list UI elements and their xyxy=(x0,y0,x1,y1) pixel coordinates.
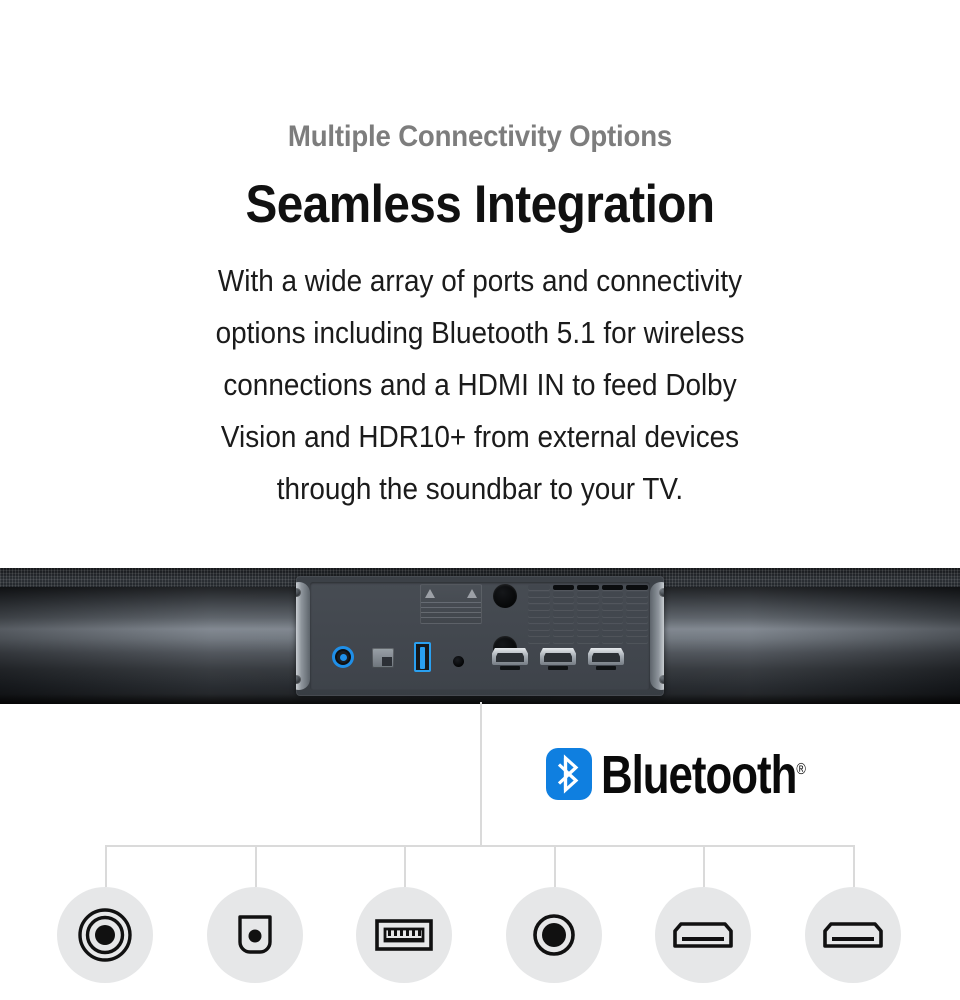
vent-slot xyxy=(602,625,624,630)
connector-vertical-line xyxy=(480,702,482,846)
vent-slot xyxy=(577,631,599,636)
vent-slot xyxy=(602,611,624,616)
hdmi-port-icon xyxy=(672,918,734,952)
rear-connection-panel xyxy=(296,576,664,696)
rear-hdmi-port-3 xyxy=(588,648,624,665)
screw-icon xyxy=(659,588,664,597)
rear-optical-port xyxy=(372,648,394,668)
optical-port-icon xyxy=(229,909,281,961)
vent-slot xyxy=(528,618,550,623)
vent-slot xyxy=(553,592,575,597)
hdmi-port-icon xyxy=(822,918,884,952)
warning-triangle-icon xyxy=(467,589,477,598)
vent-slot xyxy=(626,618,648,623)
vent-slot xyxy=(577,618,599,623)
connector-drop-line xyxy=(105,845,107,887)
ventilation-grille xyxy=(528,585,648,643)
vent-slot xyxy=(528,585,550,590)
vent-slot xyxy=(528,605,550,610)
connector-drop-line xyxy=(554,845,556,887)
body-line: Vision and HDR10+ from external devices xyxy=(48,411,912,463)
soundbar-product-image xyxy=(0,568,960,704)
panel-bezel-left xyxy=(296,582,310,690)
vent-slot xyxy=(528,631,550,636)
vent-slot xyxy=(602,585,624,590)
vent-slot xyxy=(602,592,624,597)
registered-trademark-icon: ® xyxy=(796,760,806,778)
connector-drop-line xyxy=(703,845,705,887)
vent-slot xyxy=(528,625,550,630)
marketing-copy-block: Multiple Connectivity Options Seamless I… xyxy=(0,0,960,515)
connectivity-icon-hdmi-1[interactable] xyxy=(655,887,751,983)
rear-usb-port xyxy=(414,642,431,672)
body-line: connections and a HDMI IN to feed Dolby xyxy=(48,359,912,411)
vent-slot xyxy=(602,631,624,636)
vent-slot xyxy=(553,618,575,623)
vent-slot xyxy=(577,605,599,610)
vent-slot xyxy=(602,605,624,610)
panel-bezel-right xyxy=(650,582,664,690)
screw-icon xyxy=(296,588,301,597)
rear-aux-port xyxy=(453,656,464,667)
vent-slot xyxy=(626,638,648,643)
vent-slot xyxy=(577,592,599,597)
page-title: Seamless Integration xyxy=(48,178,912,231)
body-line: With a wide array of ports and connectiv… xyxy=(48,255,912,307)
bluetooth-wordmark-text: Bluetooth xyxy=(601,744,796,804)
vent-slot xyxy=(602,638,624,643)
rear-hdmi-port-1 xyxy=(492,648,528,665)
vent-slot xyxy=(577,585,599,590)
bluetooth-rune-icon xyxy=(546,748,592,800)
vent-slot xyxy=(553,625,575,630)
connector-drop-line xyxy=(404,845,406,887)
vent-slot xyxy=(553,631,575,636)
vent-slot xyxy=(528,611,550,616)
connectivity-icon-coaxial[interactable] xyxy=(57,887,153,983)
body-line: options including Bluetooth 5.1 for wire… xyxy=(48,307,912,359)
vent-slot xyxy=(577,598,599,603)
connectivity-icon-aux[interactable] xyxy=(506,887,602,983)
connector-drop-line xyxy=(255,845,257,887)
body-copy: With a wide array of ports and connectiv… xyxy=(48,255,912,515)
vent-slot xyxy=(602,598,624,603)
vent-slot xyxy=(626,598,648,603)
vent-slot xyxy=(553,611,575,616)
vent-slot xyxy=(626,605,648,610)
vent-slot xyxy=(528,638,550,643)
panel-inner-plate xyxy=(310,582,650,690)
usb-port-icon xyxy=(374,913,434,957)
connector-drop-line xyxy=(853,845,855,887)
screw-icon xyxy=(659,675,664,684)
connectivity-icon-hdmi-2[interactable] xyxy=(805,887,901,983)
rear-hdmi-port-2 xyxy=(540,648,576,665)
connector-horizontal-bar xyxy=(105,845,854,847)
vent-slot xyxy=(626,625,648,630)
body-line: through the soundbar to your TV. xyxy=(48,463,912,515)
vent-slot xyxy=(553,638,575,643)
vent-slot xyxy=(626,611,648,616)
vent-slot xyxy=(577,611,599,616)
regulatory-warning-label xyxy=(420,584,482,624)
connectivity-icon-usb[interactable] xyxy=(356,887,452,983)
screw-icon xyxy=(296,675,301,684)
vent-slot xyxy=(553,605,575,610)
vent-slot xyxy=(553,585,575,590)
vent-slot xyxy=(626,585,648,590)
product-feature-panel: Multiple Connectivity Options Seamless I… xyxy=(0,0,960,1000)
vent-slot xyxy=(553,598,575,603)
vent-slot xyxy=(528,592,550,597)
vent-slot xyxy=(577,638,599,643)
vent-slot xyxy=(602,618,624,623)
vent-slot xyxy=(626,592,648,597)
bluetooth-logo: Bluetooth® xyxy=(546,748,839,800)
vent-slot xyxy=(528,598,550,603)
coaxial-port-icon xyxy=(76,906,134,964)
vent-slot xyxy=(626,631,648,636)
bluetooth-wordmark: Bluetooth® xyxy=(601,747,806,801)
eyebrow-text: Multiple Connectivity Options xyxy=(38,122,921,152)
aux-jack-icon xyxy=(529,910,579,960)
warning-triangle-icon xyxy=(425,589,435,598)
rear-coaxial-port xyxy=(332,646,354,668)
connectivity-icon-optical[interactable] xyxy=(207,887,303,983)
mounting-hole xyxy=(493,584,517,608)
vent-slot xyxy=(577,625,599,630)
